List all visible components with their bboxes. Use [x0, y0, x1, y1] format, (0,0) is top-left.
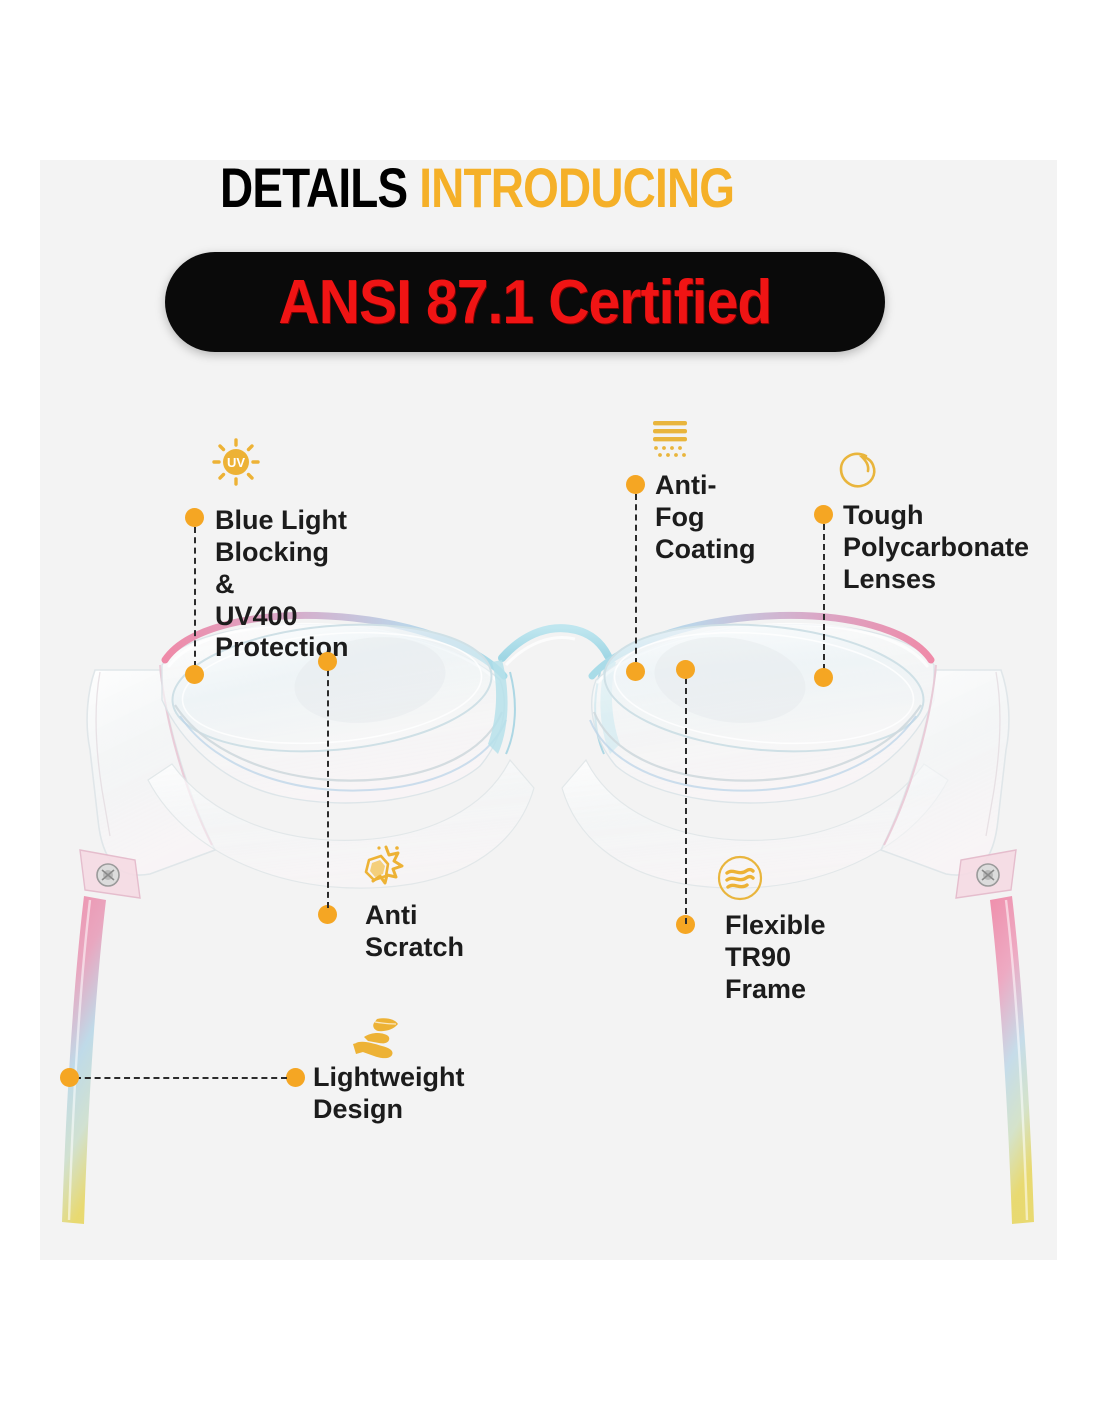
- callout-leader: [327, 660, 329, 908]
- callout-dot-anchor: [60, 1068, 79, 1087]
- callout-label-lightweight: Lightweight Design: [313, 1062, 464, 1126]
- callout-dot-anchor: [185, 665, 204, 684]
- callout-dot-anchor: [814, 668, 833, 687]
- flex-waves-icon: [715, 853, 765, 908]
- callout-dot-anchor: [626, 662, 645, 681]
- callout-dot-label: [286, 1068, 305, 1087]
- callout-leader: [75, 1077, 287, 1079]
- product-image: [40, 160, 1057, 1260]
- callout-leader: [635, 494, 637, 664]
- glasses-graphic: [62, 612, 1034, 1224]
- callout-dot-label: [185, 508, 204, 527]
- infographic-panel: DETAILS INTRODUCING ANSI 87.1 Certified: [40, 160, 1057, 1260]
- callout-label-anti-scratch: Anti Scratch: [365, 900, 464, 964]
- fog-lines-icon: [645, 415, 697, 472]
- circle-sketch-icon: [833, 445, 883, 500]
- callout-label-tough-lenses: Tough Polycarbonate Lenses: [843, 500, 1029, 596]
- uv-sun-icon: UV: [208, 435, 264, 496]
- callout-dot-anchor: [676, 660, 695, 679]
- callout-leader: [194, 527, 196, 667]
- callout-leader: [823, 524, 825, 670]
- callout-dot-anchor: [318, 652, 337, 671]
- callout-label-blue-light: Blue Light Blocking & UV400 Protection: [215, 505, 349, 664]
- callout-dot-label: [814, 505, 833, 524]
- svg-text:UV: UV: [227, 455, 245, 470]
- callout-leader: [685, 668, 687, 924]
- callout-label-flexible-frame: Flexible TR90 Frame: [725, 910, 826, 1006]
- shield-burst-icon: [355, 842, 405, 897]
- callout-dot-label: [626, 475, 645, 494]
- callout-label-anti-fog: Anti-Fog Coating: [655, 470, 756, 566]
